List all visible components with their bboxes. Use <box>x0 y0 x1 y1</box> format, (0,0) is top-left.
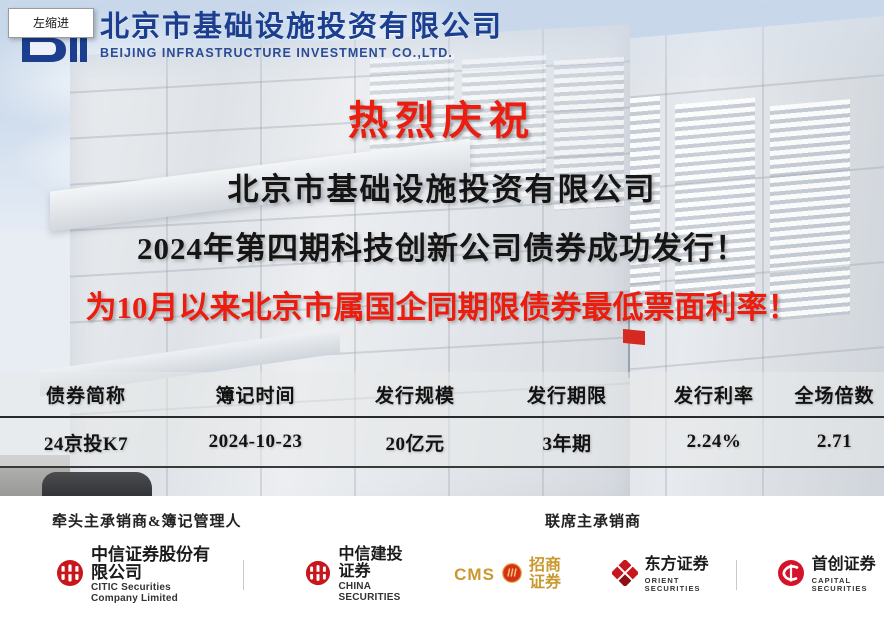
citic-logo-icon <box>56 559 84 592</box>
poster-canvas: 北京市基础设施投资有限公司 BEIJING INFRASTRUCTURE INV… <box>0 0 884 635</box>
sponsor-divider <box>243 560 244 590</box>
cell-issue-rate: 2.24% <box>643 417 785 467</box>
cms-logo-icon <box>502 563 522 588</box>
sponsor-cms-securities: CMS 招商证券 <box>454 553 566 597</box>
cell-book-date: 2024-10-23 <box>172 417 339 467</box>
role-joint-underwriter: 联席主承销商 <box>545 510 641 531</box>
company-name-cn: 北京市基础设施投资有限公司 <box>100 13 503 42</box>
company-name-en: BEIJING INFRASTRUCTURE INVESTMENT CO.,LT… <box>100 47 503 60</box>
col-issue-rate: 发行利率 <box>643 372 785 417</box>
bond-details-table: 债券简称 簿记时间 发行规模 发行期限 发行利率 全场倍数 24京投K7 202… <box>0 372 884 468</box>
china-securities-logo-icon <box>305 560 331 591</box>
headline-rate-highlight: 为10月以来北京市属国企同期限债券最低票面利率！ <box>0 282 884 327</box>
bond-table-band: 债券简称 簿记时间 发行规模 发行期限 发行利率 全场倍数 24京投K7 202… <box>0 372 884 468</box>
col-issue-term: 发行期限 <box>491 372 643 417</box>
orient-name-en: ORIENT SECURITIES <box>645 577 714 593</box>
capital-logo-icon <box>777 559 805 592</box>
cell-issue-term: 3年期 <box>491 417 643 467</box>
left-indent-tooltip: 左缩进 <box>8 8 94 38</box>
sponsor-capital-securities: 首创证券 CAPITAL SECURITIES <box>777 553 884 597</box>
poster-header: 北京市基础设施投资有限公司 BEIJING INFRASTRUCTURE INV… <box>0 0 884 78</box>
sponsor-citic-securities: 中信证券股份有限公司 CITIC Securities Company Limi… <box>56 553 221 597</box>
china-securities-name-cn: 中信建投证券 <box>338 547 410 581</box>
orient-logo-icon <box>612 560 638 591</box>
flag-pole <box>628 318 630 378</box>
cell-bond-name: 24京投K7 <box>0 417 172 467</box>
capital-name-cn: 首创证券 <box>812 557 884 574</box>
red-flag <box>623 329 645 345</box>
cell-subscription-multiple: 2.71 <box>785 417 884 467</box>
sponsor-orient-securities: 东方证券 ORIENT SECURITIES <box>612 553 714 597</box>
citic-name-cn: 中信证券股份有限公司 <box>91 546 221 582</box>
role-lead-underwriter: 牵头主承销商&簿记管理人 <box>52 510 242 531</box>
col-issue-size: 发行规模 <box>339 372 491 417</box>
headline-block: 热烈庆祝 北京市基础设施投资有限公司 2024年第四期科技创新公司债券成功发行！… <box>0 88 884 327</box>
headline-bond-issue: 2024年第四期科技创新公司债券成功发行！ <box>0 223 884 268</box>
sponsor-divider <box>736 560 737 590</box>
celebrate-title: 热烈庆祝 <box>0 88 884 146</box>
citic-name-en: CITIC Securities Company Limited <box>91 583 221 604</box>
sponsor-logo-row: 中信证券股份有限公司 CITIC Securities Company Limi… <box>0 544 884 606</box>
orient-name-cn: 东方证券 <box>645 557 714 574</box>
col-subscription-multiple: 全场倍数 <box>785 372 884 417</box>
tooltip-label: 左缩进 <box>33 16 69 30</box>
headline-company: 北京市基础设施投资有限公司 <box>0 164 884 209</box>
china-securities-name-en: CHINA SECURITIES <box>338 582 410 603</box>
col-book-date: 簿记时间 <box>172 372 339 417</box>
cell-issue-size: 20亿元 <box>339 417 491 467</box>
table-header-row: 债券简称 簿记时间 发行规模 发行期限 发行利率 全场倍数 <box>0 372 884 417</box>
table-row: 24京投K7 2024-10-23 20亿元 3年期 2.24% 2.71 <box>0 417 884 467</box>
poster-footer: 牵头主承销商&簿记管理人 联席主承销商 中信证券股份有限公司 CIT <box>0 496 884 635</box>
capital-name-en: CAPITAL SECURITIES <box>812 577 884 593</box>
footer-role-labels: 牵头主承销商&簿记管理人 联席主承销商 <box>0 496 884 538</box>
cms-abbrev: CMS <box>454 566 495 584</box>
sponsor-china-securities: 中信建投证券 CHINA SECURITIES <box>305 553 410 597</box>
col-bond-name: 债券简称 <box>0 372 172 417</box>
cms-name-cn: 招商证券 <box>529 558 566 592</box>
